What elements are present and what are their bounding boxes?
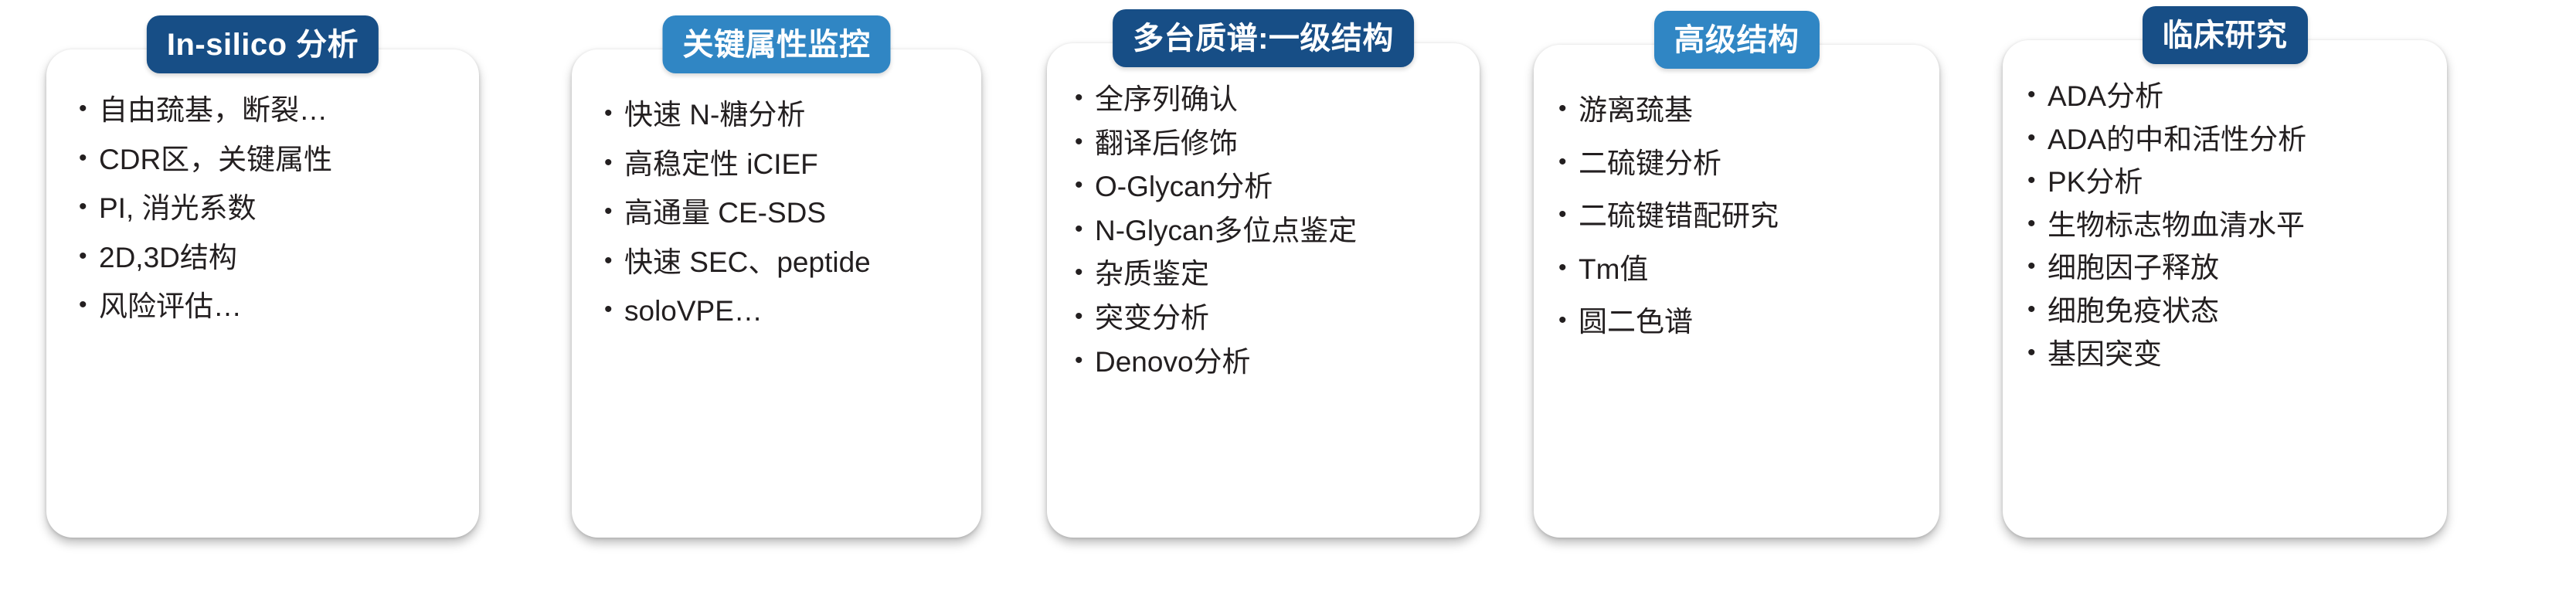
- list-item-label: 基因突变: [2048, 337, 2447, 373]
- card-header-pill: 多台质谱:一级结构: [1113, 9, 1414, 67]
- bullet-dot-icon: •: [1558, 199, 1579, 230]
- list-item-label: 杂质鉴定: [1095, 256, 1480, 293]
- card-bullet-list: •快速 N-糖分析•高稳定性 iCIEF•高通量 CE-SDS•快速 SEC、p…: [572, 97, 981, 343]
- list-item-label: 突变分析: [1095, 300, 1480, 337]
- list-item-label: 快速 N-糖分析: [624, 97, 981, 134]
- card-header-pill: In-silico 分析: [147, 15, 379, 73]
- list-item: •ADA的中和活性分析: [2027, 122, 2447, 158]
- list-item-label: Denovo分析: [1095, 344, 1480, 381]
- list-item: •高稳定性 iCIEF: [604, 147, 981, 183]
- bullet-dot-icon: •: [604, 195, 624, 227]
- bullet-dot-icon: •: [604, 245, 624, 277]
- bullet-dot-icon: •: [1075, 344, 1095, 376]
- bullet-dot-icon: •: [1558, 252, 1579, 283]
- list-item-label: ADA的中和活性分析: [2048, 122, 2447, 158]
- list-item: •二硫键错配研究: [1558, 199, 1939, 235]
- card-bullet-list: •游离巯基•二硫键分析•二硫键错配研究•Tm值•圆二色谱: [1534, 93, 1939, 358]
- card-header-pill: 高级结构: [1654, 11, 1820, 69]
- bullet-dot-icon: •: [1075, 126, 1095, 158]
- list-item: •二硫键分析: [1558, 146, 1939, 182]
- list-item-label: 2D,3D结构: [99, 240, 479, 277]
- capability-card: 临床研究•ADA分析•ADA的中和活性分析•PK分析•生物标志物血清水平•细胞因…: [2003, 40, 2447, 538]
- list-item: •Tm值: [1558, 252, 1939, 288]
- bullet-dot-icon: •: [1075, 82, 1095, 114]
- bullet-dot-icon: •: [1558, 93, 1579, 124]
- list-item-label: soloVPE…: [624, 294, 981, 330]
- card-header-label: 多台质谱:一级结构: [1133, 23, 1394, 54]
- bullet-dot-icon: •: [79, 240, 99, 272]
- list-item-label: 生物标志物血清水平: [2048, 208, 2447, 244]
- card-header-label: 临床研究: [2163, 20, 2288, 51]
- list-item: •快速 SEC、peptide: [604, 245, 981, 281]
- list-item-label: 游离巯基: [1579, 93, 1939, 129]
- list-item-label: 全序列确认: [1095, 82, 1480, 118]
- capability-card: 关键属性监控•快速 N-糖分析•高稳定性 iCIEF•高通量 CE-SDS•快速…: [572, 49, 981, 538]
- bullet-dot-icon: •: [1075, 300, 1095, 332]
- capability-card: 高级结构•游离巯基•二硫键分析•二硫键错配研究•Tm值•圆二色谱: [1534, 45, 1939, 538]
- card-bullet-list: •全序列确认•翻译后修饰•O-Glycan分析•N-Glycan多位点鉴定•杂质…: [1047, 82, 1480, 388]
- bullet-dot-icon: •: [1075, 169, 1095, 201]
- list-item-label: 自由巯基，断裂…: [99, 93, 479, 129]
- list-item: •基因突变: [2027, 337, 2447, 373]
- list-item: •Denovo分析: [1075, 344, 1480, 381]
- list-item: •翻译后修饰: [1075, 126, 1480, 162]
- list-item-label: PK分析: [2048, 165, 2447, 201]
- list-item: •细胞免疫状态: [2027, 294, 2447, 330]
- list-item-label: 圆二色谱: [1579, 304, 1939, 341]
- list-item-label: Tm值: [1579, 252, 1939, 288]
- card-bullet-list: •ADA分析•ADA的中和活性分析•PK分析•生物标志物血清水平•细胞因子释放•…: [2003, 79, 2447, 379]
- list-item: •CDR区，关键属性: [79, 142, 479, 178]
- card-header-label: 关键属性监控: [683, 29, 871, 60]
- capability-cards-board: In-silico 分析•自由巯基，断裂…•CDR区，关键属性•PI, 消光系数…: [0, 0, 2576, 604]
- card-header-pill: 关键属性监控: [663, 15, 891, 73]
- list-item-label: 高通量 CE-SDS: [624, 195, 981, 232]
- list-item: •N-Glycan多位点鉴定: [1075, 213, 1480, 249]
- list-item-label: 二硫键分析: [1579, 146, 1939, 182]
- capability-card: 多台质谱:一级结构•全序列确认•翻译后修饰•O-Glycan分析•N-Glyca…: [1047, 43, 1480, 538]
- bullet-dot-icon: •: [1075, 213, 1095, 245]
- list-item-label: PI, 消光系数: [99, 191, 479, 227]
- card-bullet-list: •自由巯基，断裂…•CDR区，关键属性•PI, 消光系数•2D,3D结构•风险评…: [46, 93, 479, 338]
- card-header-label: 高级结构: [1674, 25, 1799, 56]
- list-item: •ADA分析: [2027, 79, 2447, 115]
- list-item: •2D,3D结构: [79, 240, 479, 277]
- bullet-dot-icon: •: [2027, 208, 2048, 239]
- list-item: •杂质鉴定: [1075, 256, 1480, 293]
- list-item-label: 风险评估…: [99, 289, 479, 325]
- bullet-dot-icon: •: [79, 191, 99, 222]
- list-item-label: 细胞因子释放: [2048, 250, 2447, 287]
- bullet-dot-icon: •: [79, 142, 99, 174]
- bullet-dot-icon: •: [604, 294, 624, 325]
- list-item: •PK分析: [2027, 165, 2447, 201]
- list-item: •快速 N-糖分析: [604, 97, 981, 134]
- list-item: •细胞因子释放: [2027, 250, 2447, 287]
- list-item: •游离巯基: [1558, 93, 1939, 129]
- list-item-label: ADA分析: [2048, 79, 2447, 115]
- bullet-dot-icon: •: [2027, 122, 2048, 154]
- list-item-label: O-Glycan分析: [1095, 169, 1480, 205]
- bullet-dot-icon: •: [2027, 79, 2048, 110]
- bullet-dot-icon: •: [79, 289, 99, 321]
- list-item: •高通量 CE-SDS: [604, 195, 981, 232]
- capability-card: In-silico 分析•自由巯基，断裂…•CDR区，关键属性•PI, 消光系数…: [46, 49, 479, 538]
- list-item: •PI, 消光系数: [79, 191, 479, 227]
- bullet-dot-icon: •: [79, 93, 99, 124]
- bullet-dot-icon: •: [2027, 250, 2048, 282]
- bullet-dot-icon: •: [2027, 294, 2048, 325]
- list-item: •风险评估…: [79, 289, 479, 325]
- bullet-dot-icon: •: [1558, 304, 1579, 336]
- card-header-pill: 临床研究: [2143, 6, 2308, 64]
- bullet-dot-icon: •: [1558, 146, 1579, 178]
- list-item-label: 快速 SEC、peptide: [624, 245, 981, 281]
- list-item-label: 翻译后修饰: [1095, 126, 1480, 162]
- bullet-dot-icon: •: [604, 147, 624, 178]
- list-item-label: N-Glycan多位点鉴定: [1095, 213, 1480, 249]
- list-item: •全序列确认: [1075, 82, 1480, 118]
- list-item: •O-Glycan分析: [1075, 169, 1480, 205]
- card-header-label: In-silico 分析: [167, 29, 359, 60]
- bullet-dot-icon: •: [2027, 165, 2048, 196]
- bullet-dot-icon: •: [2027, 337, 2048, 368]
- bullet-dot-icon: •: [604, 97, 624, 129]
- list-item-label: CDR区，关键属性: [99, 142, 479, 178]
- list-item-label: 细胞免疫状态: [2048, 294, 2447, 330]
- list-item: •生物标志物血清水平: [2027, 208, 2447, 244]
- list-item: •自由巯基，断裂…: [79, 93, 479, 129]
- list-item: •圆二色谱: [1558, 304, 1939, 341]
- bullet-dot-icon: •: [1075, 256, 1095, 288]
- list-item-label: 二硫键错配研究: [1579, 199, 1939, 235]
- list-item: •突变分析: [1075, 300, 1480, 337]
- list-item-label: 高稳定性 iCIEF: [624, 147, 981, 183]
- list-item: •soloVPE…: [604, 294, 981, 330]
